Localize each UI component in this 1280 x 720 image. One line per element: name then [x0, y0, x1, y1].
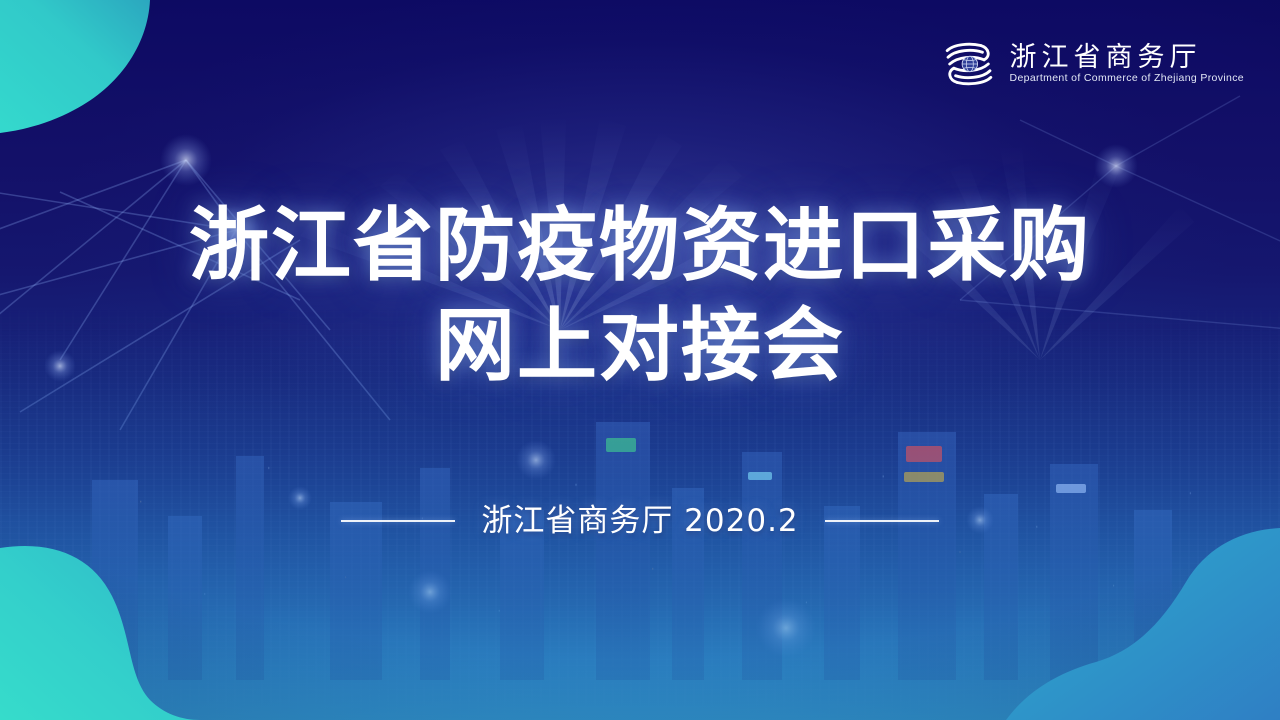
- logo-name-cn: 浙江省商务厅: [1010, 44, 1244, 71]
- title-line-2: 网上对接会: [0, 296, 1280, 396]
- globe-grid-icon: [962, 56, 977, 71]
- subtitle-text: 浙江省商务厅 2020.2: [481, 500, 798, 542]
- title-slide: 浙江省商务厅 Department of Commerce of Zhejian…: [0, 0, 1280, 720]
- slide-subtitle: 浙江省商务厅 2020.2: [0, 500, 1280, 542]
- subtitle-rule-left: [341, 520, 455, 522]
- slide-title: 浙江省防疫物资进口采购 网上对接会: [0, 196, 1280, 396]
- title-line-1: 浙江省防疫物资进口采购: [0, 196, 1280, 296]
- zhejiang-commerce-swirl-globe-icon: [942, 38, 996, 90]
- logo-name-en: Department of Commerce of Zhejiang Provi…: [1010, 73, 1244, 84]
- organization-logo: 浙江省商务厅 Department of Commerce of Zhejian…: [942, 38, 1244, 90]
- subtitle-rule-right: [825, 520, 939, 522]
- logo-wordmark: 浙江省商务厅 Department of Commerce of Zhejian…: [1010, 44, 1244, 84]
